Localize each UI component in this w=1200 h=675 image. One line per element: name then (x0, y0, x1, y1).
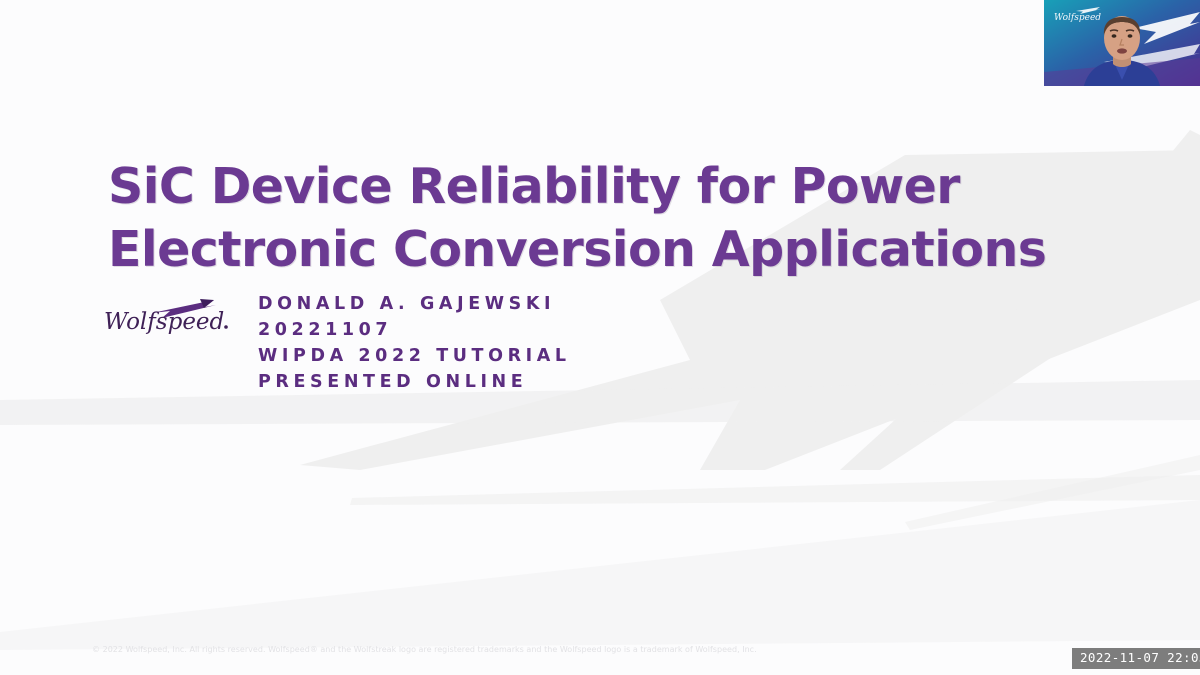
presentation-date: 20221107 (258, 317, 571, 343)
presenter-meta-row: Wolfspeed DONALD A. GAJEWSKI 20221107 WI… (104, 288, 571, 395)
copyright-footer: © 2022 Wolfspeed, Inc. All rights reserv… (92, 645, 757, 654)
wolfspeed-wordmark-text: Wolfspeed (104, 309, 224, 335)
presenter-name: DONALD A. GAJEWSKI (258, 291, 571, 317)
slide-title-line-1: SiC Device Reliability for Power (108, 155, 988, 218)
slide-title-line-2: Electronic Conversion Applications (108, 218, 988, 281)
slide-title: SiC Device Reliability for Power Electro… (108, 155, 988, 281)
wolfspeed-logo: Wolfspeed (104, 296, 232, 336)
delivery-mode: PRESENTED ONLINE (258, 369, 571, 395)
webcam-speaker-video (1079, 10, 1165, 86)
presenter-meta-lines: DONALD A. GAJEWSKI 20221107 WIPDA 2022 T… (258, 291, 571, 395)
webcam-overlay[interactable]: Wolfspeed (1044, 0, 1200, 86)
presentation-slide-screenshot: SiC Device Reliability for Power Electro… (0, 0, 1200, 675)
recording-timestamp: 2022-11-07 22:03:02 (1072, 648, 1200, 669)
event-name: WIPDA 2022 TUTORIAL (258, 343, 571, 369)
